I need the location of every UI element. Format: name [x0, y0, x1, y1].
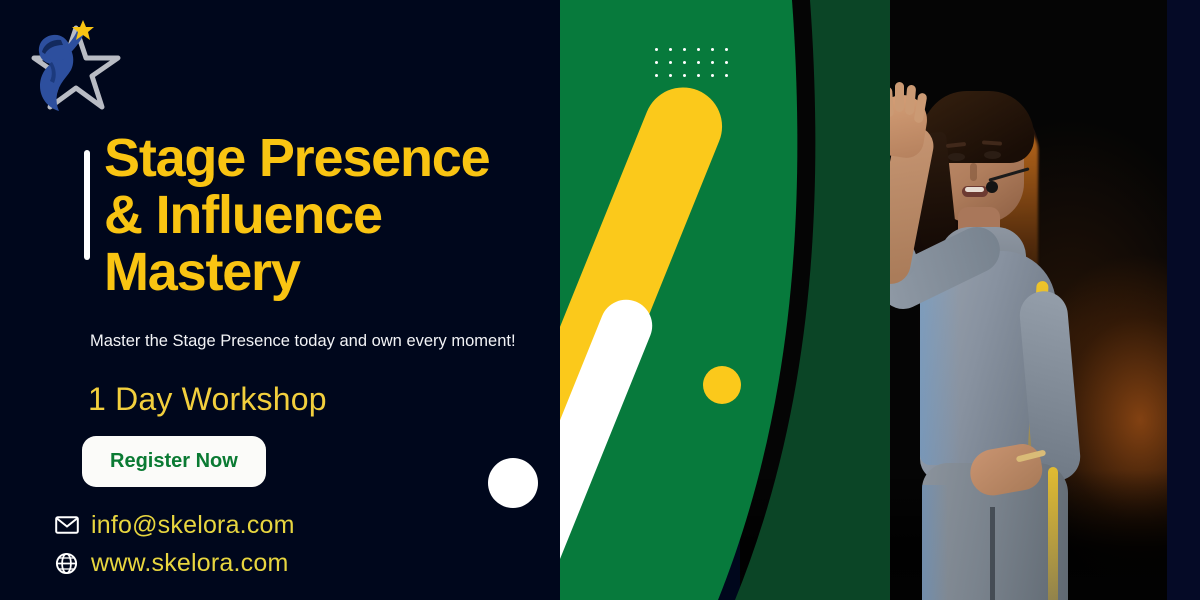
speaker-teeth — [965, 187, 984, 192]
workshop-duration-label: 1 Day Workshop — [88, 380, 327, 418]
right-navy-edge-strip — [1167, 0, 1200, 600]
speaker-trouser-blue-rim-light — [922, 485, 948, 600]
headset-microphone-capsule-icon — [986, 181, 998, 193]
speaker-finger — [895, 82, 904, 112]
speaker-nose — [970, 163, 977, 181]
yellow-circle-decoration — [703, 366, 741, 404]
contact-email-row[interactable]: info@skelora.com — [55, 506, 295, 544]
speaker-eye-right — [984, 151, 1001, 159]
title-line-3: Mastery — [104, 244, 664, 301]
contact-info: info@skelora.com www.skelora.com — [55, 506, 295, 582]
speaker-eye-left — [948, 153, 965, 161]
website-url: www.skelora.com — [91, 549, 289, 578]
skelora-star-logo — [14, 14, 122, 118]
register-now-button[interactable]: Register Now — [82, 436, 266, 487]
white-circle-decoration — [488, 458, 538, 508]
speaker-trouser-seam — [990, 507, 995, 600]
title-accent-bar — [84, 150, 90, 260]
event-promo-banner: Stage Presence & Influence Mastery Maste… — [0, 0, 1200, 600]
subtitle: Master the Stage Presence today and own … — [90, 330, 580, 353]
speaker-trouser-yellow-rim-light — [1048, 467, 1058, 600]
title-line-2: & Influence — [104, 187, 664, 244]
email-address: info@skelora.com — [91, 511, 295, 540]
title-line-1: Stage Presence — [104, 130, 664, 187]
globe-icon — [55, 550, 85, 576]
content-pane: Stage Presence & Influence Mastery Maste… — [0, 0, 660, 600]
page-title: Stage Presence & Influence Mastery — [104, 130, 664, 301]
contact-website-row[interactable]: www.skelora.com — [55, 544, 295, 582]
envelope-icon — [55, 512, 85, 538]
logo-graphic — [14, 14, 122, 118]
